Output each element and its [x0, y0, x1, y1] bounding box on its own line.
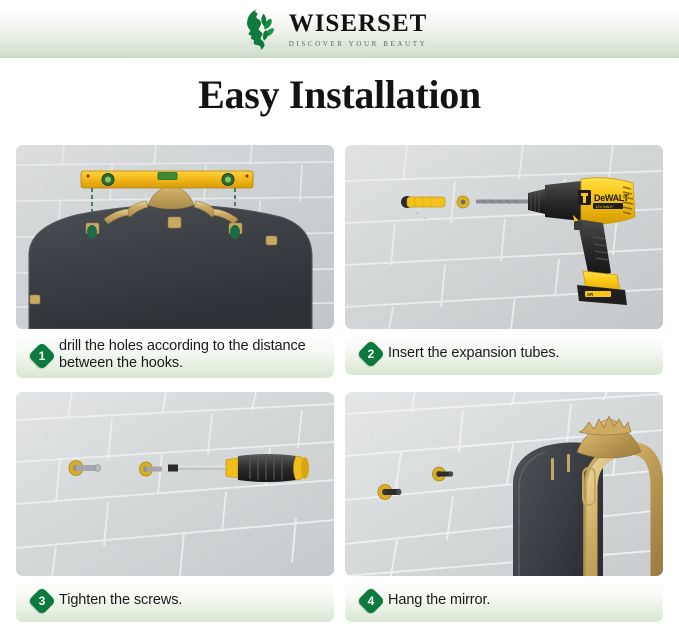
step-2-caption: 2 Insert the expansion tubes. [345, 333, 663, 375]
step-number-1: 1 [32, 346, 52, 366]
step-number-3: 3 [32, 591, 52, 611]
step-4-text: Hang the mirror. [388, 592, 490, 609]
hanging-mirror-illustration [345, 392, 663, 576]
step-number-2: 2 [361, 344, 381, 364]
steps-grid: 1 drill the holes according to the dista… [16, 145, 663, 622]
step-number-badge-4: 4 [361, 591, 381, 611]
brand-header: WISERSET DISCOVER YOUR BEAUTY [0, 0, 679, 58]
step-card-3: 3 Tighten the screws. [16, 392, 334, 622]
page-title-area: Easy Installation [0, 58, 679, 130]
brand-name: WISERSET [289, 11, 428, 36]
screwdriver-illustration [16, 392, 334, 576]
step-card-2: DeWALT 12V MAX* [345, 145, 663, 378]
svg-text:12V MAX*: 12V MAX* [595, 204, 614, 209]
woman-profile-leaf-logo-icon [240, 7, 282, 51]
step-3-caption: 3 Tighten the screws. [16, 580, 334, 622]
step-4-caption: 4 Hang the mirror. [345, 580, 663, 622]
svg-text:XR: XR [587, 292, 594, 297]
logo-lockup: WISERSET DISCOVER YOUR BEAUTY [240, 7, 428, 51]
spirit-level-and-mirror-illustration [16, 145, 334, 329]
step-card-4: 4 Hang the mirror. [345, 392, 663, 622]
step-2-text: Insert the expansion tubes. [388, 345, 559, 362]
easy-installation-infographic: WISERSET DISCOVER YOUR BEAUTY Easy Insta… [0, 0, 679, 631]
step-number-badge-3: 3 [32, 591, 52, 611]
step-1-photo [16, 145, 334, 329]
logo-wordmark: WISERSET DISCOVER YOUR BEAUTY [289, 11, 428, 48]
step-number-4: 4 [361, 591, 381, 611]
cordless-drill-illustration: DeWALT 12V MAX* [345, 145, 663, 329]
step-3-text: Tighten the screws. [59, 592, 182, 609]
step-number-badge-1: 1 [32, 346, 52, 366]
step-3-photo [16, 392, 334, 576]
step-2-photo: DeWALT 12V MAX* [345, 145, 663, 329]
page-title: Easy Installation [198, 71, 481, 118]
brand-tagline: DISCOVER YOUR BEAUTY [289, 40, 427, 48]
step-1-caption: 1 drill the holes according to the dista… [16, 333, 334, 378]
step-1-text: drill the holes according to the distanc… [59, 338, 326, 372]
step-4-photo [345, 392, 663, 576]
step-card-1: 1 drill the holes according to the dista… [16, 145, 334, 378]
step-number-badge-2: 2 [361, 344, 381, 364]
